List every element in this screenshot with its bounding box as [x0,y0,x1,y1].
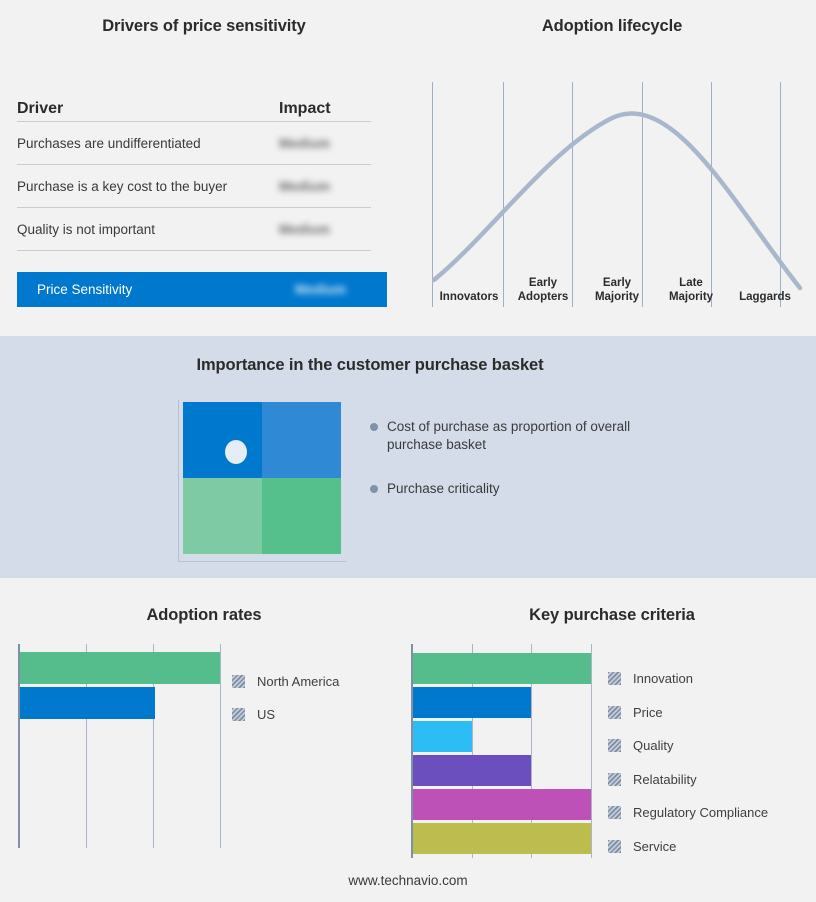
gridline [591,644,592,858]
lifecycle-stage-innovators: Innovators [432,254,506,308]
hatch-swatch-icon [232,708,245,721]
lifecycle-stage-late-majority: Late Majority [654,254,728,308]
adoption-rates-title: Adoption rates [0,606,408,625]
table-row: Purchase is a key cost to the buyer Medi… [17,165,371,208]
bar-quality [413,721,472,752]
legend-label: Innovation [633,671,693,686]
legend-item-us: US [232,698,339,731]
legend-item-relatability: Relatability [608,763,768,797]
quadrant-position-marker [225,440,247,464]
adoption-rates-chart [18,644,220,848]
adoption-rates-legend: North America US [232,665,339,731]
impact-value: Medium [279,222,371,237]
stage-line-1: Late [654,276,728,290]
quadrant-cell-top-left [183,402,262,478]
lifecycle-stage-laggards: Laggards [728,254,802,308]
bar-service [413,823,591,854]
impact-value: Medium [295,282,387,297]
legend-label: Cost of purchase as proportion of overal… [387,418,639,454]
driver-label: Quality is not important [17,222,279,237]
bar-regulatory-compliance [413,789,591,820]
hatch-swatch-icon [608,672,621,685]
gridline [220,644,221,848]
legend-label: Regulatory Compliance [633,805,768,820]
legend-label: Quality [633,738,673,753]
legend-item-service: Service [608,830,768,864]
quadrant-grid [183,402,341,554]
quadrant-cell-bottom-left [183,478,262,554]
driver-label: Price Sensitivity [17,282,295,297]
legend-item-regulatory-compliance: Regulatory Compliance [608,796,768,830]
drivers-table: Driver Impact Purchases are undifferenti… [17,88,371,251]
table-header-row: Driver Impact [17,88,371,122]
drivers-panel: Drivers of price sensitivity Driver Impa… [0,0,408,336]
legend-item: Purchase criticality [370,480,670,498]
driver-label: Purchases are undifferentiated [17,136,279,151]
stage-line-2: Majority [654,290,728,304]
lifecycle-stage-labels: Innovators Early Adopters Early Majority… [432,254,802,308]
legend-item-quality: Quality [608,729,768,763]
footer-url: www.technavio.com [0,873,816,888]
key-purchase-criteria-chart [411,644,603,858]
stage-line-2: Laggards [728,290,802,304]
hatch-swatch-icon [608,806,621,819]
stage-line-1: Early [506,276,580,290]
legend-item-price: Price [608,696,768,730]
table-row: Quality is not important Medium [17,208,371,251]
adoption-lifecycle-title: Adoption lifecycle [408,17,816,36]
quadrant-cell-top-right [262,402,341,478]
stage-line-2: Innovators [432,290,506,304]
price-sensitivity-highlight-row: Price Sensitivity Medium [17,272,387,307]
quadrant-x-axis [178,561,346,562]
key-purchase-criteria-title: Key purchase criteria [408,606,816,625]
legend-label: Service [633,839,676,854]
hatch-swatch-icon [608,840,621,853]
impact-value: Medium [279,179,371,194]
quadrant-cell-bottom-right [262,478,341,554]
stage-line-1: Early [580,276,654,290]
bar-price [413,687,531,718]
column-header-driver: Driver [17,100,279,118]
quadrant-chart [172,396,352,571]
legend-label: North America [257,674,339,689]
impact-value: Medium [279,136,371,151]
quadrant-y-axis [178,400,179,562]
purchase-basket-title: Importance in the customer purchase bask… [0,356,740,375]
legend-item-innovation: Innovation [608,662,768,696]
legend-label: US [257,707,275,722]
bar-innovation [413,653,591,684]
drivers-title: Drivers of price sensitivity [0,17,408,36]
purchase-basket-legend: Cost of purchase as proportion of overal… [370,418,670,524]
hatch-swatch-icon [232,675,245,688]
adoption-lifecycle-panel: Adoption lifecycle Innovators Early Adop… [408,0,816,336]
lifecycle-stage-early-majority: Early Majority [580,254,654,308]
legend-label: Relatability [633,772,697,787]
legend-item: Cost of purchase as proportion of overal… [370,418,670,454]
stage-line-2: Adopters [506,290,580,304]
bar-us [20,687,155,719]
driver-label: Purchase is a key cost to the buyer [17,179,279,194]
bullet-dot-icon [370,485,378,493]
key-purchase-criteria-legend: Innovation Price Quality Relatability Re… [608,662,768,863]
bar-relatability [413,755,531,786]
infographic-page: Drivers of price sensitivity Driver Impa… [0,0,816,902]
legend-item-north-america: North America [232,665,339,698]
stage-line-2: Majority [580,290,654,304]
hatch-swatch-icon [608,739,621,752]
bar-north-america [20,652,220,684]
adoption-lifecycle-chart: Innovators Early Adopters Early Majority… [432,82,802,312]
bullet-dot-icon [370,423,378,431]
lifecycle-stage-early-adopters: Early Adopters [506,254,580,308]
legend-label: Purchase criticality [387,480,500,498]
column-header-impact: Impact [279,100,371,118]
table-row: Purchases are undifferentiated Medium [17,122,371,165]
hatch-swatch-icon [608,706,621,719]
hatch-swatch-icon [608,773,621,786]
legend-label: Price [633,705,663,720]
